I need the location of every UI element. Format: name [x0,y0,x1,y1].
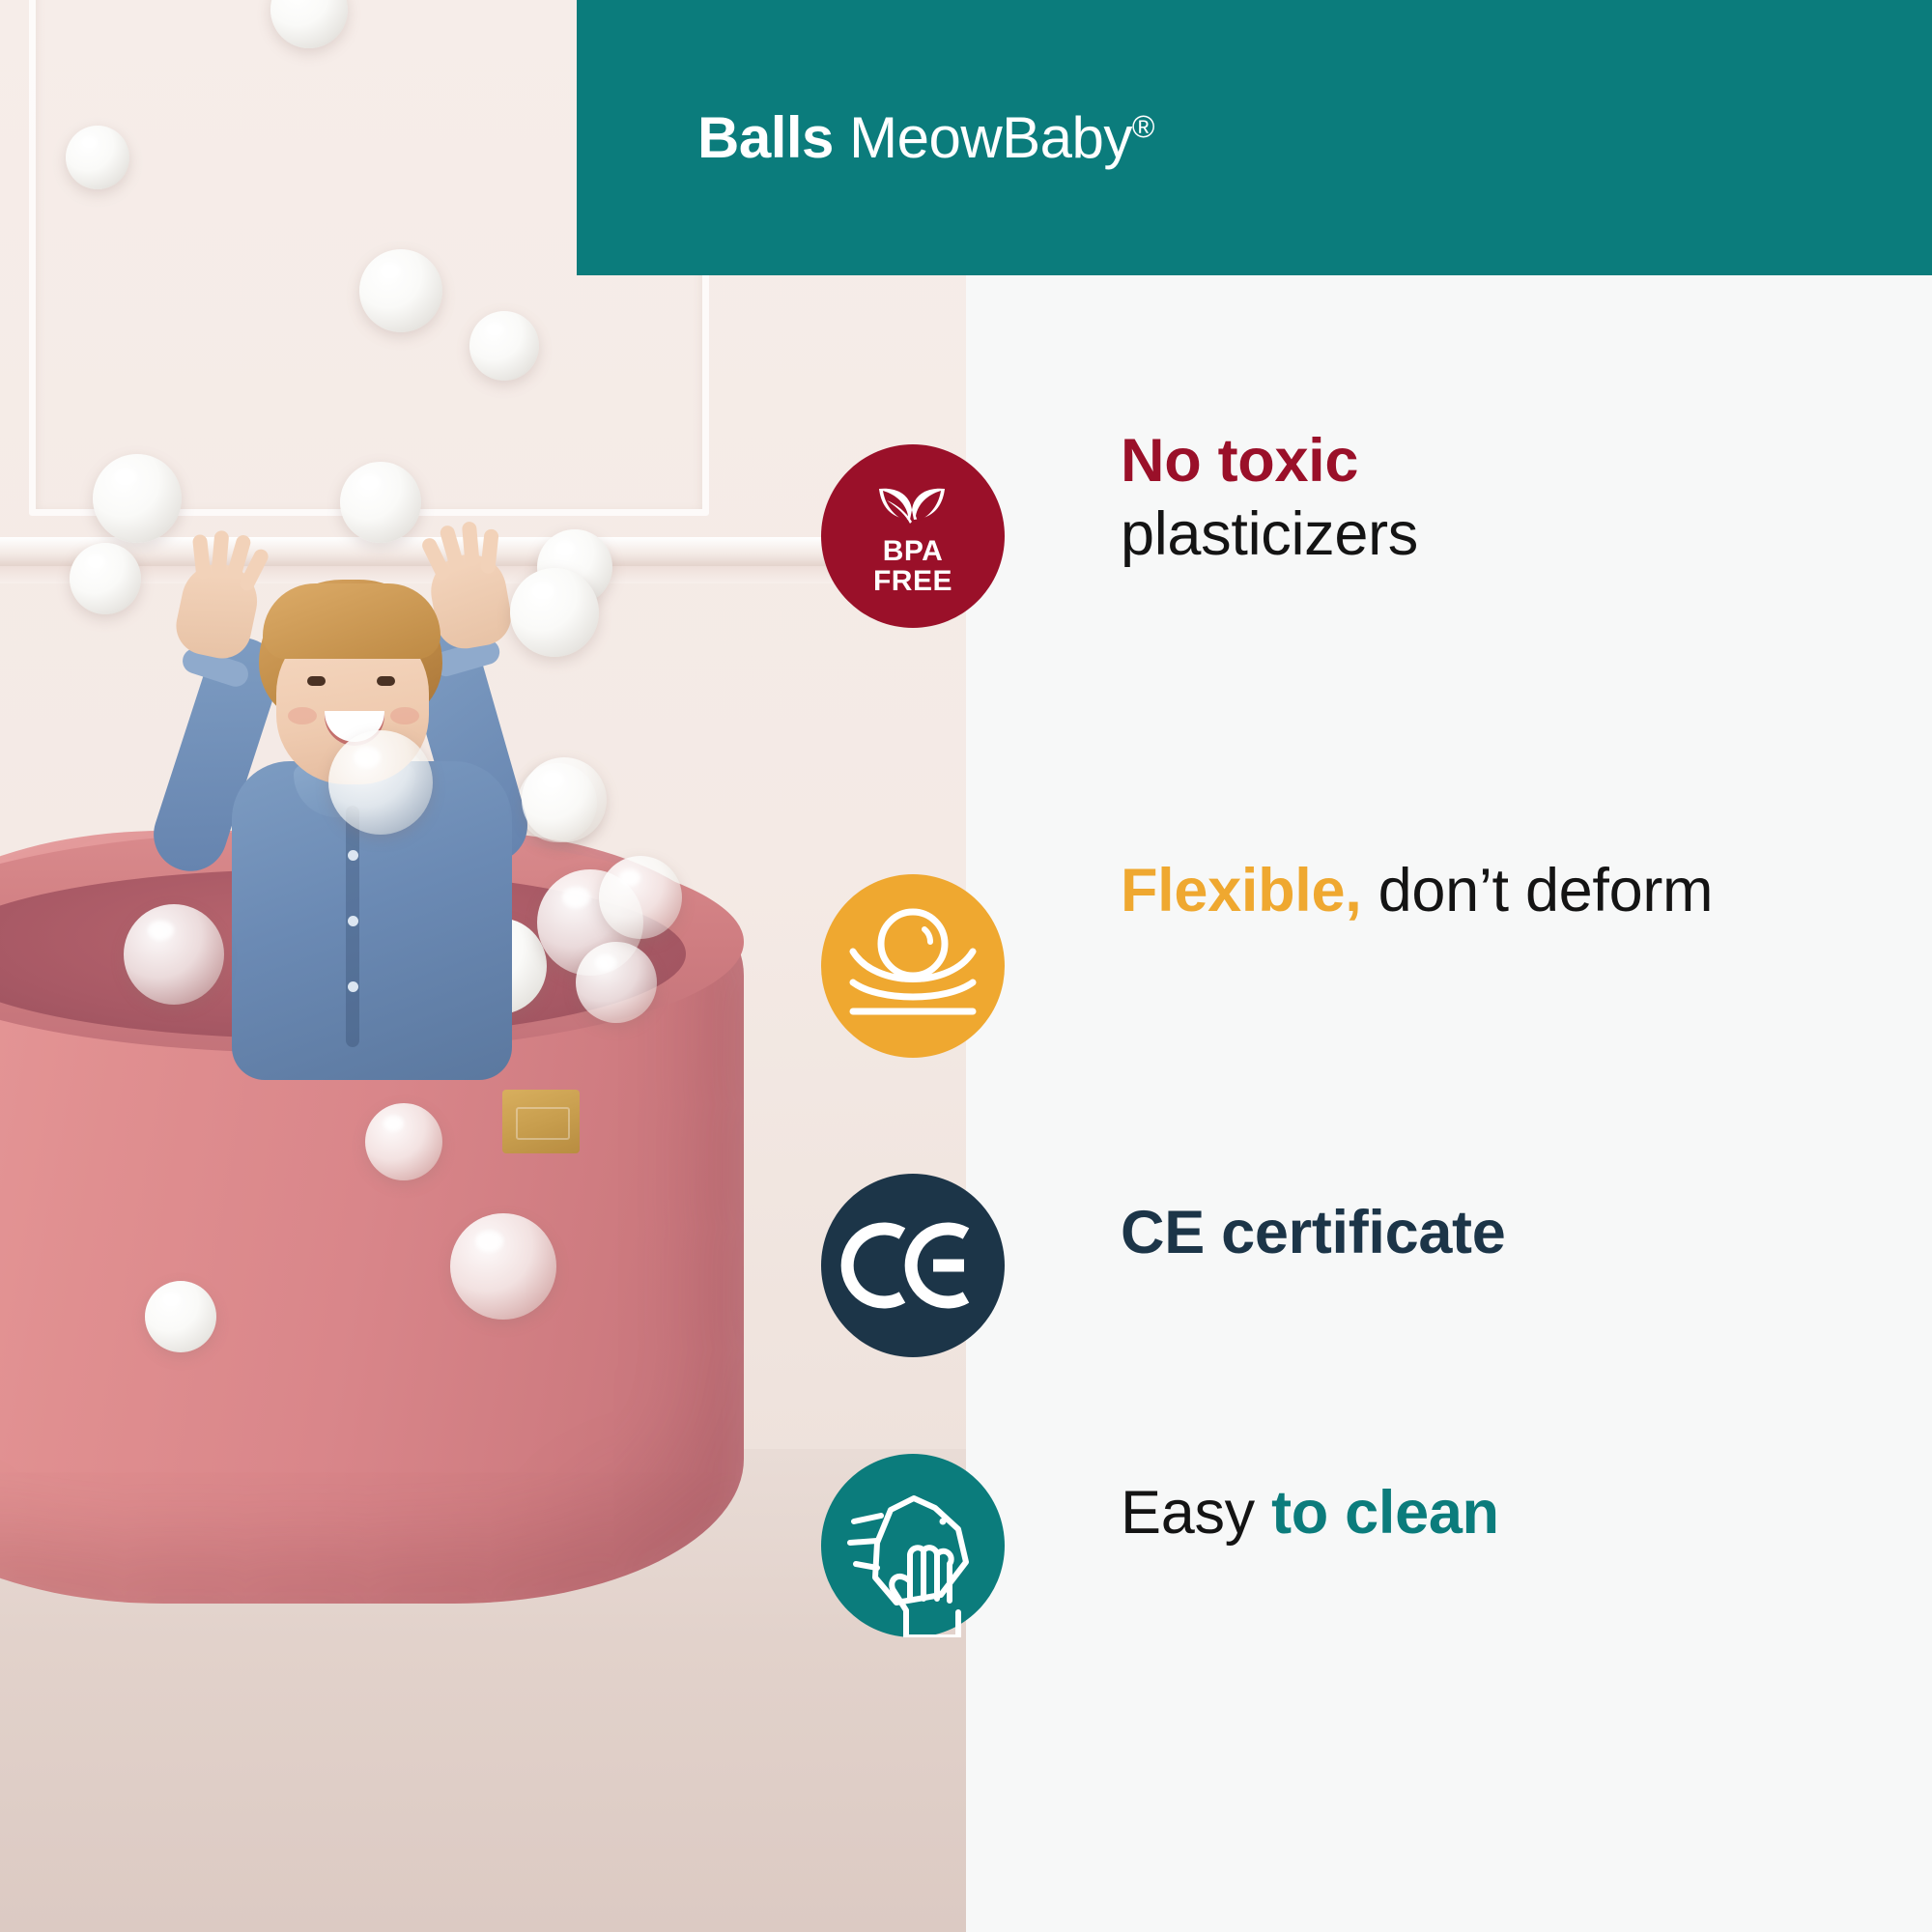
feature-highlight-easy-clean: to clean [1271,1479,1499,1547]
feature-rest-no-toxic: plasticizers [1121,500,1418,568]
feature-text-flexible: Flexible, don’t deform [1121,855,1893,928]
infographic-canvas: Balls MeowBaby® BPA FREE [0,0,1932,1932]
bpa-badge-text: BPA FREE [821,537,1005,596]
bpa-line-2: FREE [821,567,1005,597]
feature-row-no-toxic: BPA FREE No toxic plasticizers [0,444,1932,628]
feature-text-ce: CE certificate [1121,1197,1893,1270]
feature-list: BPA FREE No toxic plasticizers [0,0,1932,1932]
feature-text-no-toxic: No toxic plasticizers [1121,425,1893,571]
flexible-ball-icon [821,874,1005,1058]
feature-row-flexible: Flexible, don’t deform [0,874,1932,1058]
feature-rest-easy-clean: Easy [1121,1479,1255,1547]
bpa-line-1: BPA [821,537,1005,567]
feature-row-ce: CE certificate [0,1174,1932,1357]
feature-rest-flexible: don’t deform [1378,857,1714,924]
feature-highlight-flexible: Flexible, [1121,857,1361,924]
ce-mark-icon [821,1174,1005,1357]
bpa-free-badge-icon: BPA FREE [821,444,1005,628]
cleaning-hand-cloth-icon [821,1454,1005,1637]
feature-row-easy-clean: Easy to clean [0,1454,1932,1637]
feature-highlight-no-toxic: No toxic [1121,427,1358,495]
feature-highlight-ce: CE certificate [1121,1199,1505,1266]
feature-text-easy-clean: Easy to clean [1121,1477,1893,1550]
